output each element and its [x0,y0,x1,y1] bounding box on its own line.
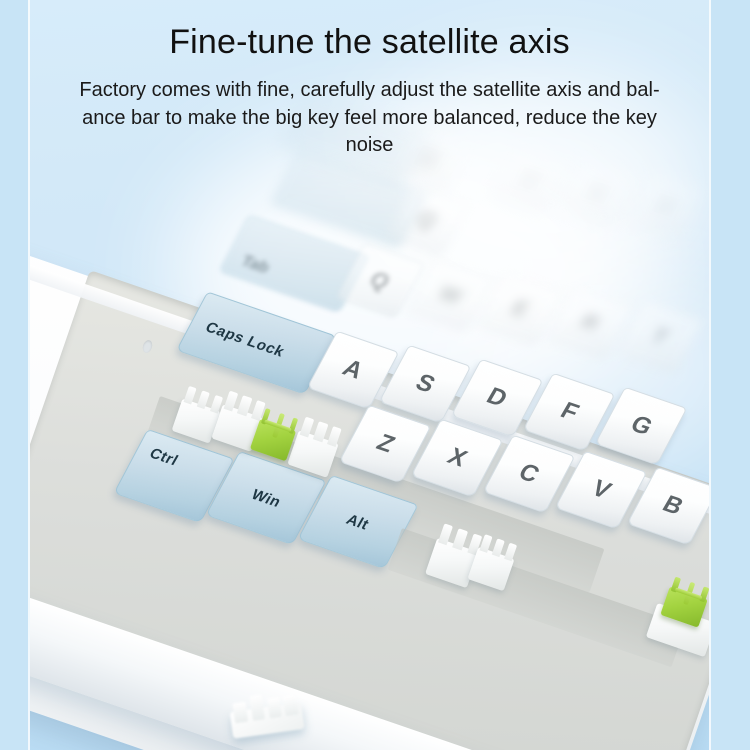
right-frame-hairline [709,0,711,750]
page-title: Fine-tune the satellite axis [38,24,701,61]
description-line-2: ance bar to make the big key feel more b… [38,105,701,132]
right-frame-strip [711,0,750,750]
left-frame-strip [0,0,28,750]
photo-canvas: 4 5 6 Q Q Tab Q W E R [30,0,709,750]
product-feature-image: 4 5 6 Q Q Tab Q W E R [0,0,750,750]
description-line-3: noise [38,132,701,159]
page-description: Factory comes with fine, carefully adjus… [38,77,701,159]
text-block: Fine-tune the satellite axis Factory com… [30,0,709,159]
description-line-1: Factory comes with fine, carefully adjus… [38,77,701,104]
